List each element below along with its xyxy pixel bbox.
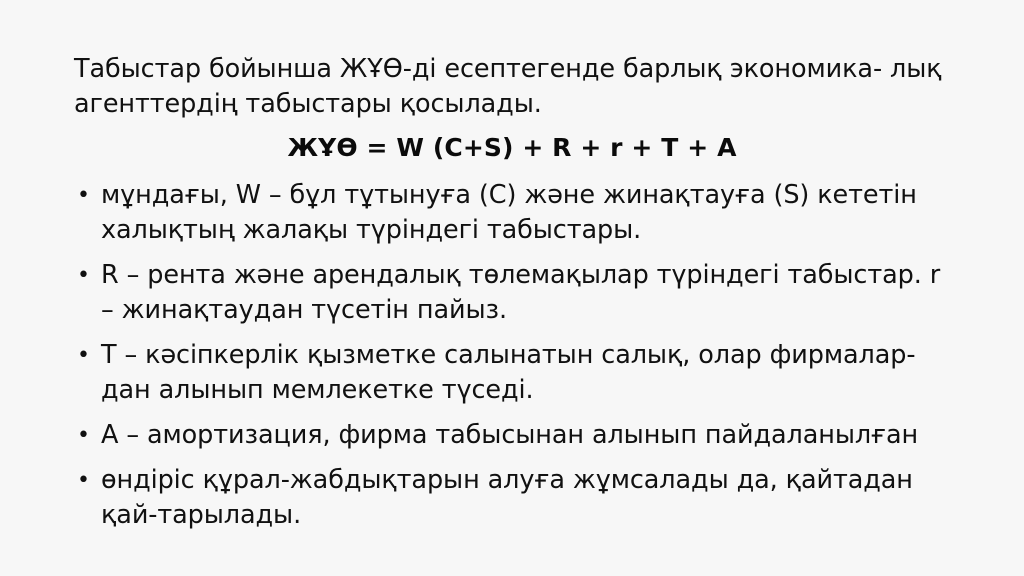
bullet-dot-icon: • — [77, 463, 95, 498]
bullet-list: • мұндағы, W – бұл тұтынуға (C) және жин… — [74, 178, 950, 533]
bullet-dot-icon: • — [77, 178, 95, 213]
list-item-text: A – амортизация, фирма табысынан алынып … — [101, 418, 950, 453]
formula-line: ЖҰӨ = W (C+S) + R + r + T + A — [74, 131, 950, 165]
list-item: • T – кәсіпкерлік қызметке салынатын сал… — [74, 338, 950, 408]
slide-body: Табыстар бойынша ЖҰӨ-ді есептегенде барл… — [74, 52, 950, 533]
list-item-text: T – кәсіпкерлік қызметке салынатын салық… — [101, 338, 950, 408]
list-item-text: өндіріс құрал-жабдықтарын алуға жұмсалад… — [101, 463, 950, 533]
bullet-dot-icon: • — [77, 338, 95, 373]
bullet-dot-icon: • — [77, 418, 95, 453]
list-item-text: мұндағы, W – бұл тұтынуға (C) және жинақ… — [101, 178, 950, 248]
list-item: • өндіріс құрал-жабдықтарын алуға жұмсал… — [74, 463, 950, 533]
intro-paragraph: Табыстар бойынша ЖҰӨ-ді есептегенде барл… — [74, 52, 950, 122]
slide-canvas: Табыстар бойынша ЖҰӨ-ді есептегенде барл… — [0, 0, 1024, 576]
list-item: • мұндағы, W – бұл тұтынуға (C) және жин… — [74, 178, 950, 248]
list-item: • A – амортизация, фирма табысынан алыны… — [74, 418, 950, 453]
list-item-text: R – рента және арендалық төлемақылар түр… — [101, 258, 950, 328]
bullet-dot-icon: • — [77, 258, 95, 293]
list-item: • R – рента және арендалық төлемақылар т… — [74, 258, 950, 328]
